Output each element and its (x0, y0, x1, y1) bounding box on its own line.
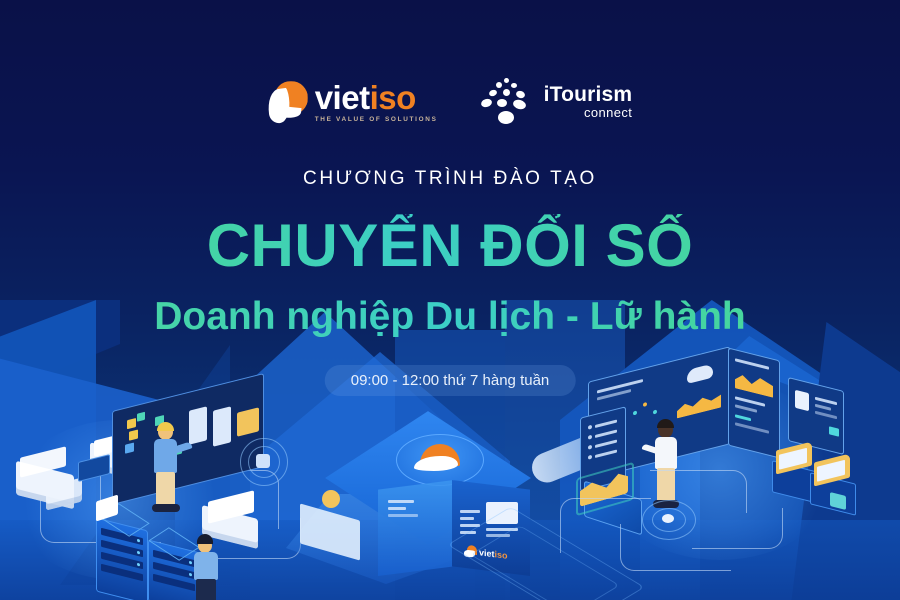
page-title: CHUYỂN ĐỔI SỐ (0, 214, 900, 277)
vietiso-logo-mark-icon (268, 81, 308, 123)
dash-cloud-icon (687, 364, 713, 384)
training-program-poster: vietiso (0, 0, 900, 600)
report-accent (735, 414, 751, 421)
itourism-name: iTourism (544, 84, 633, 106)
server-led (137, 551, 140, 555)
person-right-hair (657, 419, 674, 428)
report-title-line (735, 358, 769, 369)
person-left-legs (156, 472, 175, 506)
list-bullet (588, 435, 592, 440)
itourism-sub: connect (544, 106, 633, 120)
itourism-dot (512, 98, 527, 110)
report-line (735, 404, 757, 412)
board-card-2 (213, 406, 231, 446)
server-led (137, 563, 140, 567)
vietiso-logo-text: vietiso The Value of Solutions (315, 81, 438, 123)
itourism-dot (511, 83, 517, 88)
fingerprint-core (256, 454, 270, 468)
person-left-torso (154, 439, 177, 473)
vietiso-word-viet: viet (315, 79, 370, 116)
itourism-logo[interactable]: iTourism connect (480, 78, 633, 126)
cube-ui-line (388, 500, 414, 503)
report-line (735, 422, 769, 433)
list-bullet (588, 445, 592, 450)
cube-ui-line (460, 517, 474, 520)
folder-sheet (779, 448, 807, 470)
report-area-chart (735, 368, 773, 397)
itourism-dot (497, 99, 507, 107)
list-bullet (588, 425, 592, 430)
sticky-note-yellow-1 (127, 418, 136, 429)
report-screen (728, 348, 780, 459)
page-subtitle: Doanh nghiệp Du lịch - Lữ hành (0, 296, 900, 339)
doc-line (815, 404, 831, 411)
vietiso-wordmark: vietiso (315, 81, 438, 114)
sticky-note-yellow-2 (129, 429, 138, 440)
cube-ui-line (388, 514, 418, 517)
board-card-3 (237, 407, 259, 436)
itourism-dot (504, 78, 509, 83)
target-core (662, 514, 674, 523)
vietiso-tagline: The Value of Solutions (315, 117, 438, 123)
person-2-torso (194, 552, 218, 580)
person-2-hair (197, 534, 213, 544)
doc-accent (829, 426, 839, 436)
sticky-note-teal-1 (137, 412, 145, 422)
wire-right-a (650, 470, 747, 513)
folder-sheet (817, 460, 845, 482)
itourism-dot (496, 82, 502, 88)
coin-badge (322, 490, 340, 508)
sticky-note-blue-1 (125, 442, 134, 453)
vietiso-logo[interactable]: vietiso The Value of Solutions (268, 81, 438, 123)
document-screen (788, 377, 844, 455)
itourism-logo-mark-icon (480, 78, 534, 126)
person-2-legs (196, 579, 216, 600)
itourism-dot (515, 90, 526, 99)
itourism-dot (480, 97, 493, 108)
person-left-hair (157, 422, 174, 431)
cube-ui-line (460, 510, 480, 513)
person-left (146, 424, 186, 516)
list-row (595, 440, 617, 448)
itourism-dot (503, 89, 510, 96)
vietiso-word-iso: iso (370, 79, 416, 116)
vietiso-cube-mark-icon (414, 444, 464, 474)
itourism-dot (488, 89, 498, 97)
person-left-bottom (188, 534, 226, 600)
list-row (595, 450, 617, 458)
doc-line (815, 411, 837, 419)
board-card-1 (189, 406, 207, 444)
schedule-badge: 09:00 - 12:00 thứ 7 hàng tuần (325, 365, 576, 396)
list-bullet (588, 455, 592, 460)
server-led (137, 539, 140, 543)
person-left-shoes (152, 504, 180, 512)
dash-area-chart (677, 390, 721, 419)
list-row (595, 420, 617, 428)
itourism-logo-text: iTourism connect (544, 84, 633, 119)
itourism-dot (498, 111, 514, 124)
cube-ui-line (388, 507, 406, 510)
list-row (595, 430, 617, 438)
logo-row: vietiso The Value of Solutions iTourism … (0, 78, 900, 126)
document-icon (795, 390, 809, 411)
cube-left-face (378, 480, 454, 576)
program-kicker: CHƯƠNG TRÌNH ĐÀO TẠO (0, 168, 900, 190)
